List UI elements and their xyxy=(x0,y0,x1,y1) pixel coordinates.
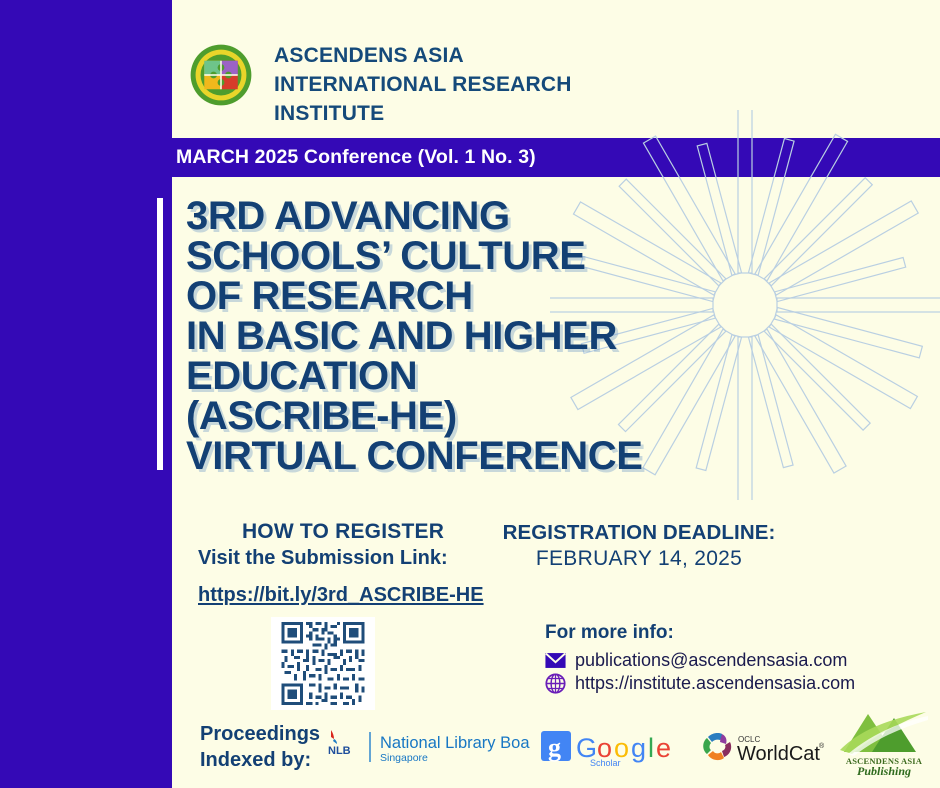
header-lockup: ASCENDENS ASIA INTERNATIONAL RESEARCH IN… xyxy=(190,42,572,128)
registration-qr-code[interactable] xyxy=(271,617,375,710)
indexed-by-label: Proceedings Indexed by: xyxy=(200,722,320,773)
conference-issue-text: MARCH 2025 Conference (Vol. 1 No. 3) xyxy=(140,146,536,169)
svg-text:l: l xyxy=(648,733,654,763)
ascendens-asia-publishing-logo: ASCENDENS ASIA Publishing xyxy=(838,708,930,778)
how-to-register-block: HOW TO REGISTER Visit the Submission Lin… xyxy=(198,520,488,607)
contact-website: https://institute.ascendensasia.com xyxy=(575,673,855,694)
oclc-worldcat-logo: OCLC WorldCat ® xyxy=(698,726,828,770)
globe-icon xyxy=(545,673,566,694)
contact-website-row[interactable]: https://institute.ascendensasia.com xyxy=(545,673,855,694)
contact-block: For more info: publications@ascendensasi… xyxy=(545,622,855,694)
svg-text:WorldCat: WorldCat xyxy=(737,743,820,765)
page-title: 3RD ADVANCING SCHOOLS’ CULTURE OF RESEAR… xyxy=(186,196,806,476)
svg-text:g: g xyxy=(631,733,646,763)
svg-text:NLB: NLB xyxy=(328,745,351,757)
contact-email: publications@ascendensasia.com xyxy=(575,650,847,671)
submission-link[interactable]: https://bit.ly/3rd_ASCRIBE-HE xyxy=(198,584,488,607)
organization-name: ASCENDENS ASIA INTERNATIONAL RESEARCH IN… xyxy=(274,42,572,128)
nlb-logo: NLB National Library Board Singapore xyxy=(322,728,530,768)
svg-text:Publishing: Publishing xyxy=(857,764,911,778)
svg-text:®: ® xyxy=(819,742,825,750)
contact-email-row[interactable]: publications@ascendensasia.com xyxy=(545,650,855,671)
svg-text:National Library Board: National Library Board xyxy=(380,734,530,752)
envelope-icon xyxy=(545,650,566,671)
registration-deadline-heading: REGISTRATION DEADLINE: xyxy=(489,521,789,545)
ascendens-asia-puzzle-logo xyxy=(190,44,252,106)
registration-deadline-date: FEBRUARY 14, 2025 xyxy=(489,547,789,571)
google-scholar-logo: g G o o g l e Scholar xyxy=(540,727,688,769)
svg-text:Scholar: Scholar xyxy=(590,758,621,768)
svg-text:g: g xyxy=(548,733,561,762)
svg-text:e: e xyxy=(656,733,671,763)
how-to-register-heading: HOW TO REGISTER xyxy=(198,520,488,544)
submission-link-label: Visit the Submission Link: xyxy=(198,547,488,570)
contact-heading: For more info: xyxy=(545,622,855,644)
conference-issue-banner: MARCH 2025 Conference (Vol. 1 No. 3) xyxy=(140,138,616,177)
accent-rule xyxy=(157,198,163,470)
conference-poster: ASCENDENS ASIA INTERNATIONAL RESEARCH IN… xyxy=(0,0,940,788)
registration-deadline-block: REGISTRATION DEADLINE: FEBRUARY 14, 2025 xyxy=(489,521,789,571)
svg-text:Singapore: Singapore xyxy=(380,752,428,764)
